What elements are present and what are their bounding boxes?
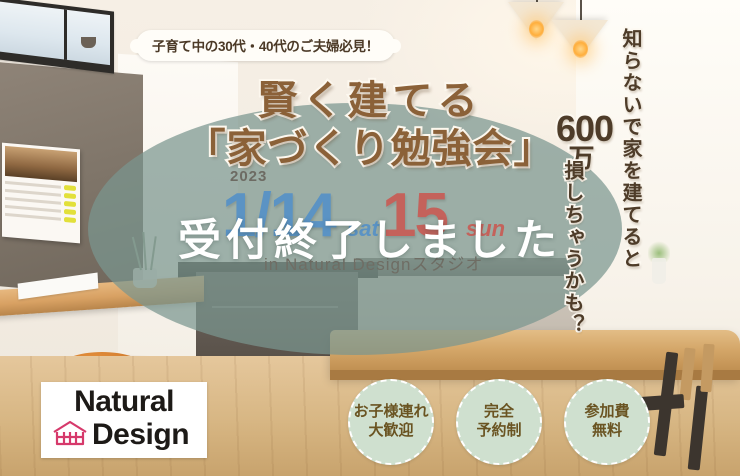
poster-text-line <box>5 181 61 189</box>
window-mullion <box>64 9 67 59</box>
feature-badge-children-line2: 大歓迎 <box>368 422 413 441</box>
window-glass <box>0 1 110 65</box>
poster-text-line <box>5 197 61 205</box>
feature-badge-children-line1: お子様連れ <box>353 403 428 422</box>
feature-badge-fee-line2: 無料 <box>592 422 622 441</box>
brand-logo: Natural Design <box>41 382 207 458</box>
feature-badge-fee-line1: 参加費 <box>584 403 629 422</box>
pendant-lamp-bulb <box>573 40 588 58</box>
poster-text-line <box>5 189 61 197</box>
feature-badge-list: お子様連れ 大歓迎 完全 予約制 参加費 無料 <box>348 379 650 465</box>
brand-logo-top-word: Natural <box>51 387 197 417</box>
target-audience-ribbon: 子育て中の30代・40代のご夫婦必見！ <box>136 30 395 61</box>
window-pot-decor <box>81 37 96 48</box>
feature-badge-reservation: 完全 予約制 <box>456 379 542 465</box>
cabinet-handle <box>212 306 338 308</box>
feature-badge-reservation-line2: 予約制 <box>476 422 521 441</box>
status-badge: 受付終了しました <box>0 206 740 268</box>
brand-logo-bottom-word: Design <box>92 420 189 450</box>
pendant-lamp-bulb <box>529 20 544 38</box>
event-banner: 子育て中の30代・40代のご夫婦必見！ 賢く建てる 「家づくり勉強会」 2023… <box>0 0 740 476</box>
feature-badge-fee: 参加費 無料 <box>564 379 650 465</box>
plant-icon <box>133 268 157 288</box>
brand-logo-bottom-row: Design <box>51 419 197 452</box>
feature-badge-children: お子様連れ 大歓迎 <box>348 379 434 465</box>
feature-badge-reservation-line1: 完全 <box>484 403 514 422</box>
house-icon <box>51 419 89 452</box>
